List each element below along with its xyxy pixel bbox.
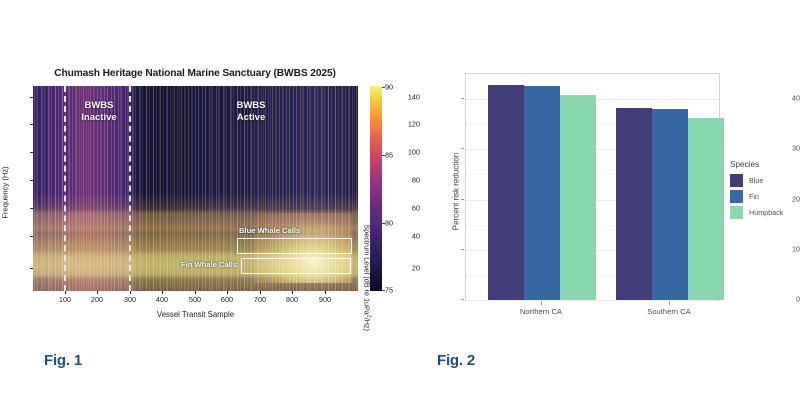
- x-tick-100: [65, 291, 66, 294]
- x-tick-400: [162, 291, 163, 294]
- legend-item-blue[interactable]: Blue: [730, 174, 800, 187]
- legend-title: Species: [730, 160, 800, 169]
- legend-swatch-blue: [730, 174, 743, 187]
- legend-label-blue: Blue: [749, 176, 763, 185]
- legend-item-humpback[interactable]: Humpback: [730, 206, 800, 219]
- x-tick-500: [195, 291, 196, 294]
- x-tick-900: [325, 291, 326, 294]
- y-tick-40: [30, 236, 33, 237]
- bar-x-tick-label-southern: Southern CA: [647, 307, 690, 316]
- blue-whale-calls-box: [237, 238, 352, 254]
- bar-y-tick-label-10: 10: [774, 245, 800, 254]
- bar-y-tick-10: [461, 249, 464, 250]
- spectrogram-title: Chumash Heritage National Marine Sanctua…: [30, 68, 360, 79]
- bar-chart-y-axis-label: Percent risk reduction: [452, 122, 461, 262]
- x-tick-label-600: 600: [221, 295, 233, 304]
- spectrogram-x-axis-label: Vessel Transit Sample: [33, 310, 358, 319]
- y-tick-100: [30, 152, 33, 153]
- x-tick-600: [227, 291, 228, 294]
- bwbs-inactive-annotation: BWBS Inactive: [71, 100, 127, 123]
- x-tick-label-400: 400: [156, 295, 168, 304]
- boundary-dash-1: [64, 86, 66, 291]
- bar-x-tick-northern: [541, 301, 542, 305]
- y-tick-60: [30, 208, 33, 209]
- legend-item-fin[interactable]: Fin: [730, 190, 800, 203]
- figure-2-caption: Fig. 2: [437, 352, 475, 369]
- figure-1-spectrogram: Chumash Heritage National Marine Sanctua…: [0, 60, 420, 330]
- legend-label-fin: Fin: [749, 192, 759, 201]
- figure-2-bar-chart: 0 10 20 30 40 Percent risk reduction Nor…: [430, 60, 800, 330]
- bwbs-inactive-line2: Inactive: [81, 112, 116, 123]
- y-tick-label-60: 60: [391, 204, 420, 213]
- x-tick-label-200: 200: [91, 295, 103, 304]
- colorbar-tick-label-90: 90: [385, 83, 393, 92]
- y-tick-120: [30, 124, 33, 125]
- fin-whale-calls-box: [241, 258, 351, 274]
- x-tick-300: [130, 291, 131, 294]
- bar-y-tick-label-0: 0: [774, 295, 800, 304]
- y-tick-20: [30, 268, 33, 269]
- y-tick-label-40: 40: [391, 232, 420, 241]
- bar-x-tick-southern: [669, 301, 670, 305]
- x-tick-label-500: 500: [189, 295, 201, 304]
- colorbar-tick-label-85: 85: [385, 151, 393, 160]
- bar-southern-fin[interactable]: [652, 109, 688, 300]
- fin-whale-calls-label: Fin Whale Calls: [181, 260, 237, 269]
- y-tick-label-20: 20: [391, 264, 420, 273]
- colorbar-tick-label-75: 75: [385, 286, 393, 295]
- bar-y-tick-40: [461, 98, 464, 99]
- bar-chart-plot-area: [465, 73, 720, 301]
- legend-swatch-fin: [730, 190, 743, 203]
- spectrogram-plot-area: BWBS Inactive BWBS Active Blue Whale Cal…: [33, 86, 358, 291]
- bar-northern-fin[interactable]: [524, 86, 560, 300]
- bar-y-tick-label-30: 30: [774, 144, 800, 153]
- x-tick-700: [260, 291, 261, 294]
- x-tick-label-100: 100: [59, 295, 71, 304]
- bar-y-tick-0: [461, 299, 464, 300]
- y-tick-label-140: 140: [391, 93, 420, 102]
- bar-y-tick-label-40: 40: [774, 94, 800, 103]
- bar-x-tick-label-northern: Northern CA: [520, 307, 562, 316]
- spectrogram-y-axis-label: Frequency (Hz): [1, 163, 10, 223]
- colorbar-tick-label-80: 80: [385, 219, 393, 228]
- y-tick-label-120: 120: [391, 120, 420, 129]
- legend-label-humpback: Humpback: [749, 208, 783, 217]
- gridline-0: [466, 300, 719, 301]
- y-tick-80: [30, 180, 33, 181]
- boundary-dash-2: [129, 86, 131, 291]
- x-tick-label-300: 300: [124, 295, 136, 304]
- figure-1-caption: Fig. 1: [44, 352, 82, 369]
- bar-y-tick-30: [461, 148, 464, 149]
- y-tick-140: [30, 97, 33, 98]
- x-tick-label-700: 700: [254, 295, 266, 304]
- x-tick-800: [292, 291, 293, 294]
- x-tick-200: [97, 291, 98, 294]
- bwbs-active-line1: BWBS: [236, 100, 265, 111]
- y-tick-label-100: 100: [391, 148, 420, 157]
- legend-swatch-humpback: [730, 206, 743, 219]
- blue-whale-calls-label: Blue Whale Calls: [239, 226, 300, 235]
- x-tick-label-900: 900: [319, 295, 331, 304]
- species-legend: Species Blue Fin Humpback: [730, 160, 800, 222]
- bar-y-tick-20: [461, 199, 464, 200]
- bar-northern-blue[interactable]: [488, 85, 524, 300]
- colorbar-title-main: Spectrum Level (dB re 1uPa: [362, 224, 371, 314]
- colorbar-title-tail: /Hz): [362, 318, 371, 331]
- spectrum-level-colorbar: [370, 86, 382, 291]
- bar-northern-humpback[interactable]: [560, 95, 596, 300]
- x-tick-label-800: 800: [286, 295, 298, 304]
- bar-southern-humpback[interactable]: [688, 118, 724, 300]
- bwbs-active-annotation: BWBS Active: [223, 100, 279, 123]
- colorbar-title: Spectrum Level (dB re 1uPa2/Hz): [362, 193, 371, 363]
- bwbs-inactive-line1: BWBS: [84, 100, 113, 111]
- bar-southern-blue[interactable]: [616, 108, 652, 300]
- bwbs-active-line2: Active: [237, 112, 266, 123]
- y-tick-label-80: 80: [391, 176, 420, 185]
